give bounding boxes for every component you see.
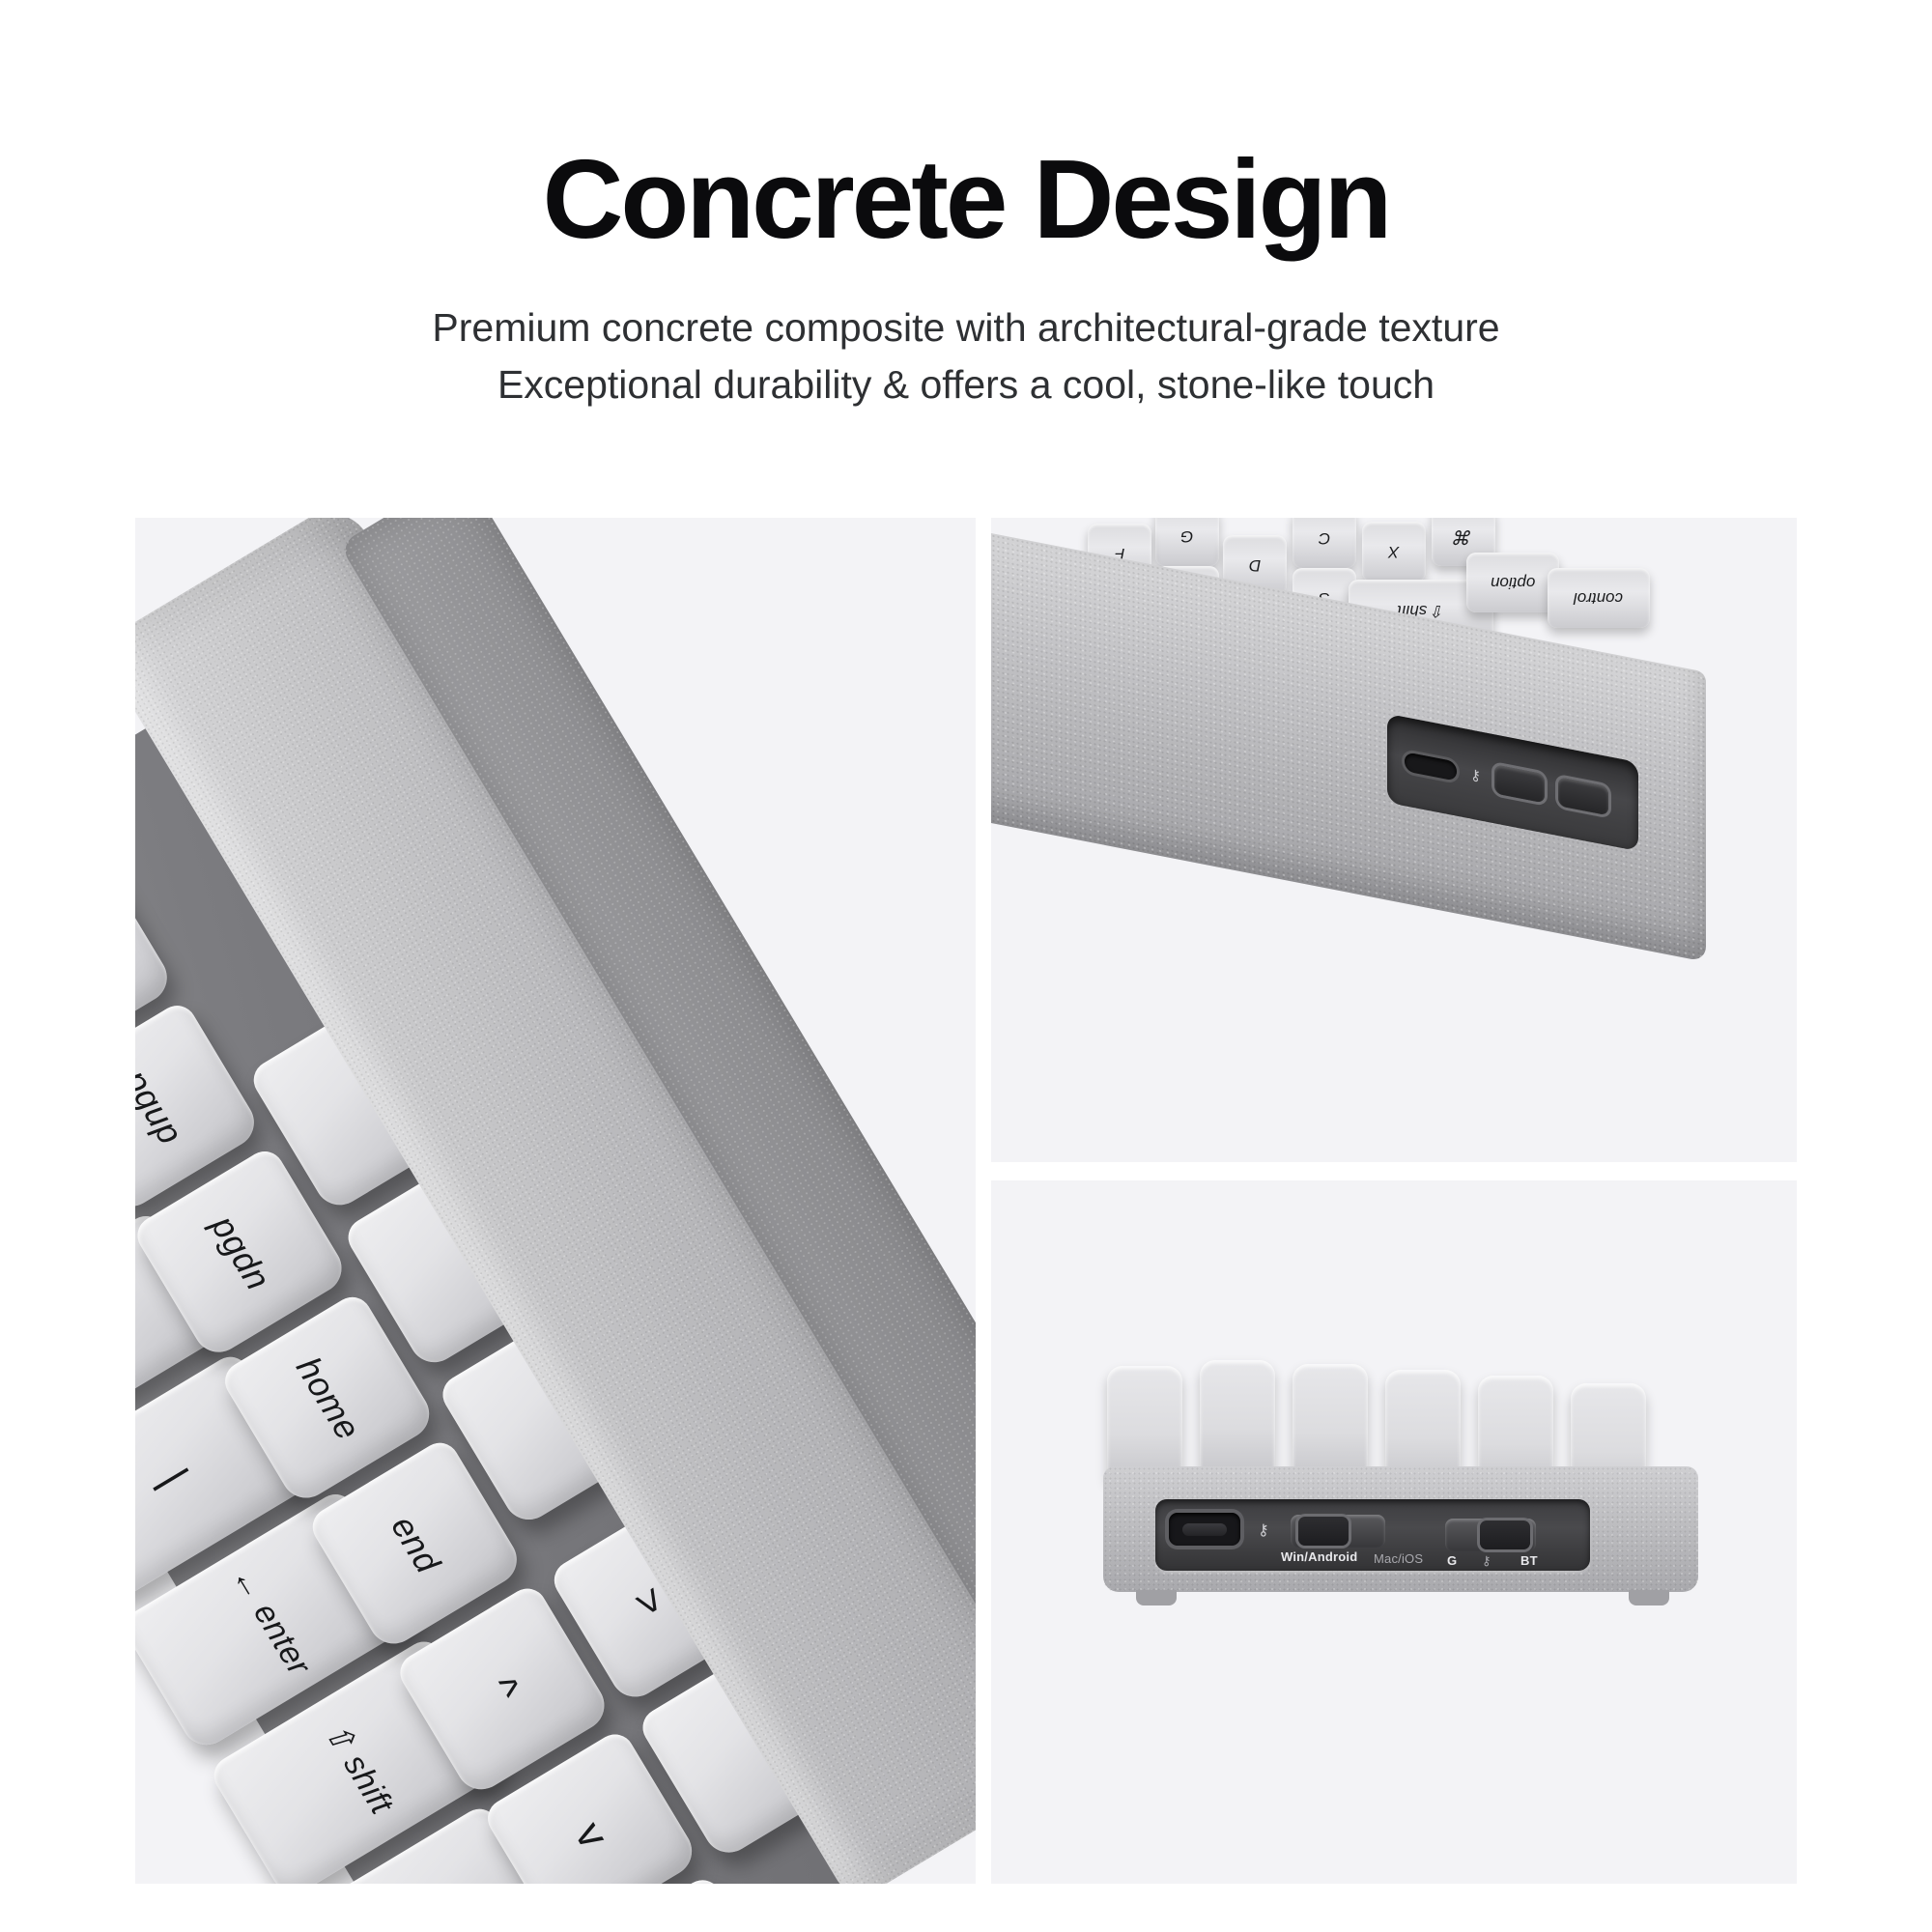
usb-icon-small: ⚷ [1482, 1553, 1492, 1569]
key-control[interactable]: control [1548, 568, 1650, 628]
keycap-3[interactable] [1293, 1364, 1368, 1478]
keyboard-angled-illustration: el kspace | ← enter ⇧ shift ctrl ☼ pgu [135, 518, 976, 1884]
keyboard-corner-illustration: G F C X D S A Z W E Q esc tab caps lock … [991, 518, 1797, 1162]
usb-c-port[interactable] [1405, 752, 1457, 781]
connection-toggle-switch[interactable] [1558, 777, 1608, 815]
label-bluetooth: BT [1520, 1553, 1538, 1568]
panel-side-profile-ports: ⚷ Win/Android Mac/iOS G ⚷ BT [991, 1180, 1797, 1884]
key-g[interactable]: G [1155, 518, 1219, 566]
page-title: Concrete Design [0, 143, 1932, 255]
subtitle-line-1: Premium concrete composite with architec… [0, 299, 1932, 356]
rubber-foot-right [1629, 1590, 1669, 1605]
os-toggle-switch[interactable] [1494, 764, 1545, 803]
keycap-row [1107, 1360, 1706, 1476]
product-image-grid: el kspace | ← enter ⇧ shift ctrl ☼ pgu [0, 518, 1932, 1889]
keyboard-side-illustration: ⚷ Win/Android Mac/iOS G ⚷ BT [991, 1180, 1797, 1884]
usb-icon: ⚷ [1470, 765, 1481, 784]
usb-c-port[interactable] [1169, 1513, 1240, 1546]
label-win-android: Win/Android [1281, 1549, 1357, 1564]
label-wireless-g: G [1447, 1553, 1457, 1568]
rubber-foot-left [1136, 1590, 1177, 1605]
hero-header: Concrete Design Premium concrete composi… [0, 0, 1932, 412]
usb-icon: ⚷ [1258, 1520, 1269, 1540]
panel-angled-keyboard-closeup: el kspace | ← enter ⇧ shift ctrl ☼ pgu [135, 518, 976, 1884]
io-panel: ⚷ Win/Android Mac/iOS G ⚷ BT [1155, 1499, 1590, 1571]
os-switch-knob[interactable] [1298, 1517, 1349, 1546]
key-option[interactable]: option [1466, 553, 1559, 612]
keycap-1[interactable] [1107, 1366, 1182, 1480]
panel-corner-port-view: G F C X D S A Z W E Q esc tab caps lock … [991, 518, 1797, 1162]
key-x[interactable]: X [1362, 522, 1426, 582]
connection-switch-knob[interactable] [1480, 1520, 1530, 1549]
page-subtitle: Premium concrete composite with architec… [0, 299, 1932, 412]
label-mac-ios: Mac/iOS [1374, 1551, 1423, 1566]
keycap-2[interactable] [1200, 1360, 1275, 1474]
key-c[interactable]: C [1293, 518, 1356, 568]
subtitle-line-2: Exceptional durability & offers a cool, … [0, 356, 1932, 413]
